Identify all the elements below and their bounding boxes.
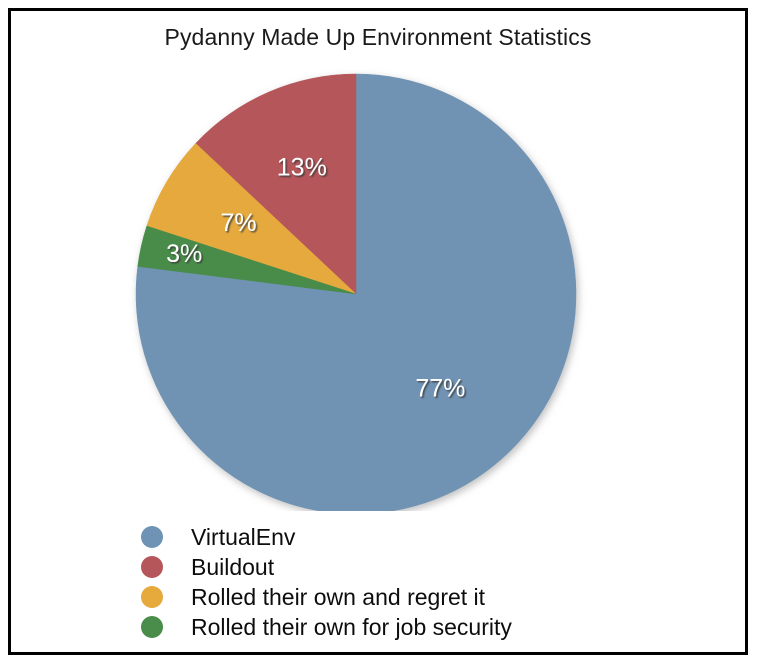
- chart-legend: VirtualEnv Buildout Rolled their own and…: [141, 522, 701, 642]
- legend-item-virtualenv[interactable]: VirtualEnv: [141, 522, 701, 552]
- legend-item-rolled-own-job-security[interactable]: Rolled their own for job security: [141, 612, 701, 642]
- legend-swatch-icon: [141, 526, 163, 548]
- pie-slice-label: 77%: [415, 374, 465, 402]
- pie-slices-group: [136, 74, 576, 511]
- pie-slice-label: 13%: [277, 153, 327, 181]
- chart-frame: Pydanny Made Up Environment Statistics 7…: [8, 8, 748, 655]
- legend-item-label: Rolled their own and regret it: [191, 586, 485, 609]
- legend-item-buildout[interactable]: Buildout: [141, 552, 701, 582]
- legend-swatch-icon: [141, 586, 163, 608]
- pie-slice-label: 7%: [221, 209, 257, 237]
- legend-item-label: Rolled their own for job security: [191, 616, 512, 639]
- legend-item-label: Buildout: [191, 556, 274, 579]
- legend-swatch-icon: [141, 556, 163, 578]
- pie-chart-svg: 77%13%7%3%: [11, 11, 751, 511]
- chart-container: Pydanny Made Up Environment Statistics 7…: [11, 11, 745, 652]
- legend-item-rolled-own-regret[interactable]: Rolled their own and regret it: [141, 582, 701, 612]
- legend-swatch-icon: [141, 616, 163, 638]
- pie-slice-label: 3%: [166, 240, 202, 268]
- pie-chart-area: 77%13%7%3%: [11, 11, 751, 511]
- legend-item-label: VirtualEnv: [191, 526, 295, 549]
